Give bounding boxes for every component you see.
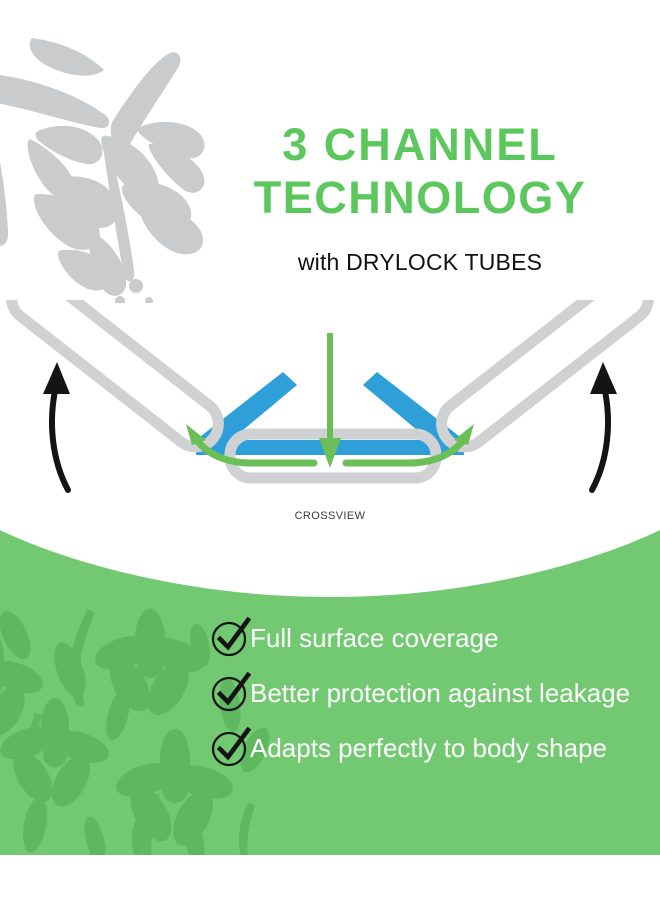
headline-block: 3 CHANNEL TECHNOLOGY — [210, 118, 630, 224]
curved-up-arrow-icon-right — [592, 386, 608, 490]
benefits-list: Full surface coverage Better protection … — [0, 610, 660, 775]
poster-canvas: 3 CHANNEL TECHNOLOGY with DRYLOCK TUBES — [0, 0, 660, 900]
right-lift-arrowhead-icon — [590, 362, 617, 394]
left-lift-arrowhead-icon — [43, 362, 70, 394]
circle-check-icon — [210, 671, 252, 713]
circle-check-icon — [210, 726, 252, 768]
headline-line-2: TECHNOLOGY — [210, 171, 630, 224]
benefit-label: Full surface coverage — [250, 623, 499, 653]
list-item: Full surface coverage — [0, 610, 660, 665]
list-item: Better protection against leakage — [0, 665, 660, 720]
headline-line-1: 3 CHANNEL — [210, 118, 630, 171]
benefit-label: Better protection against leakage — [250, 678, 630, 708]
leaf-branch-motif-icon — [0, 18, 222, 303]
circle-check-icon — [210, 616, 252, 658]
curved-up-arrow-icon-left — [52, 386, 68, 490]
headline-subtitle: with DRYLOCK TUBES — [210, 249, 630, 276]
benefit-label: Adapts perfectly to body shape — [250, 733, 607, 763]
list-item: Adapts perfectly to body shape — [0, 720, 660, 775]
